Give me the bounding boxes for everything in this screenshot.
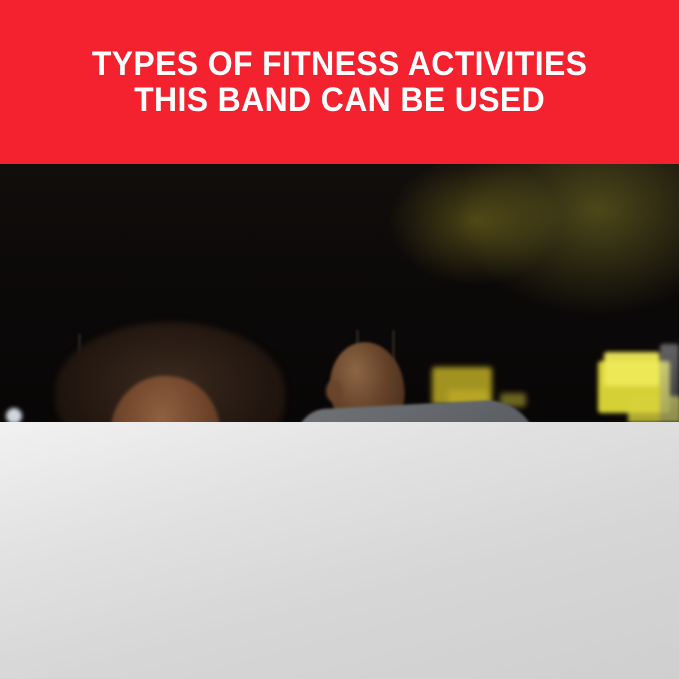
- photo-equipment-yellow-b: [604, 352, 660, 386]
- page-title: TYPES OF FITNESS ACTIVITIES THIS BAND CA…: [73, 46, 606, 119]
- product-infographic: TYPES OF FITNESS ACTIVITIES THIS BAND CA…: [0, 0, 679, 679]
- photo-lamp-1: [6, 408, 22, 422]
- lifestyle-photo: [0, 164, 679, 422]
- activities-strip: Walk at Home Workouts Upper Body Resista…: [0, 422, 679, 679]
- photo-rack-post: [660, 344, 679, 422]
- photo-man-ear: [326, 380, 342, 402]
- title-banner: TYPES OF FITNESS ACTIVITIES THIS BAND CA…: [0, 0, 679, 164]
